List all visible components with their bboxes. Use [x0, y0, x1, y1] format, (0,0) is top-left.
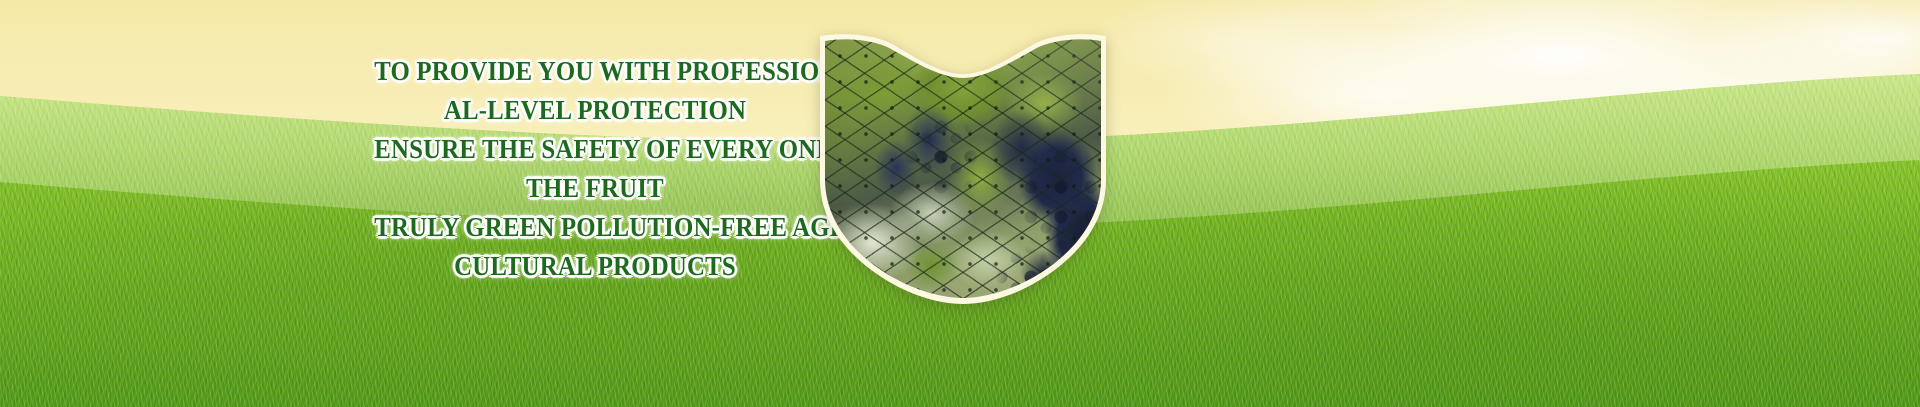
slogan-line-6: CULTURAL PRODUCTS	[374, 247, 816, 286]
slogan-line-3: ENSURE THE SAFETY OF EVERY ONE OF	[374, 130, 816, 169]
shield-shading-overlay	[812, 28, 1114, 304]
shield-emblem	[812, 28, 1114, 304]
slogan-text-block: TO PROVIDE YOU WITH PROFESSION- AL-LEVEL…	[374, 52, 816, 286]
slogan-line-1: TO PROVIDE YOU WITH PROFESSION-	[374, 52, 816, 91]
promo-banner: TO PROVIDE YOU WITH PROFESSION- AL-LEVEL…	[0, 0, 1920, 407]
slogan-line-5: TRULY GREEN POLLUTION-FREE AGRI-	[374, 208, 816, 247]
grape-vine-photo	[812, 28, 1114, 304]
slogan-line-2: AL-LEVEL PROTECTION	[374, 91, 816, 130]
slogan-line-4: THE FRUIT	[374, 169, 816, 208]
